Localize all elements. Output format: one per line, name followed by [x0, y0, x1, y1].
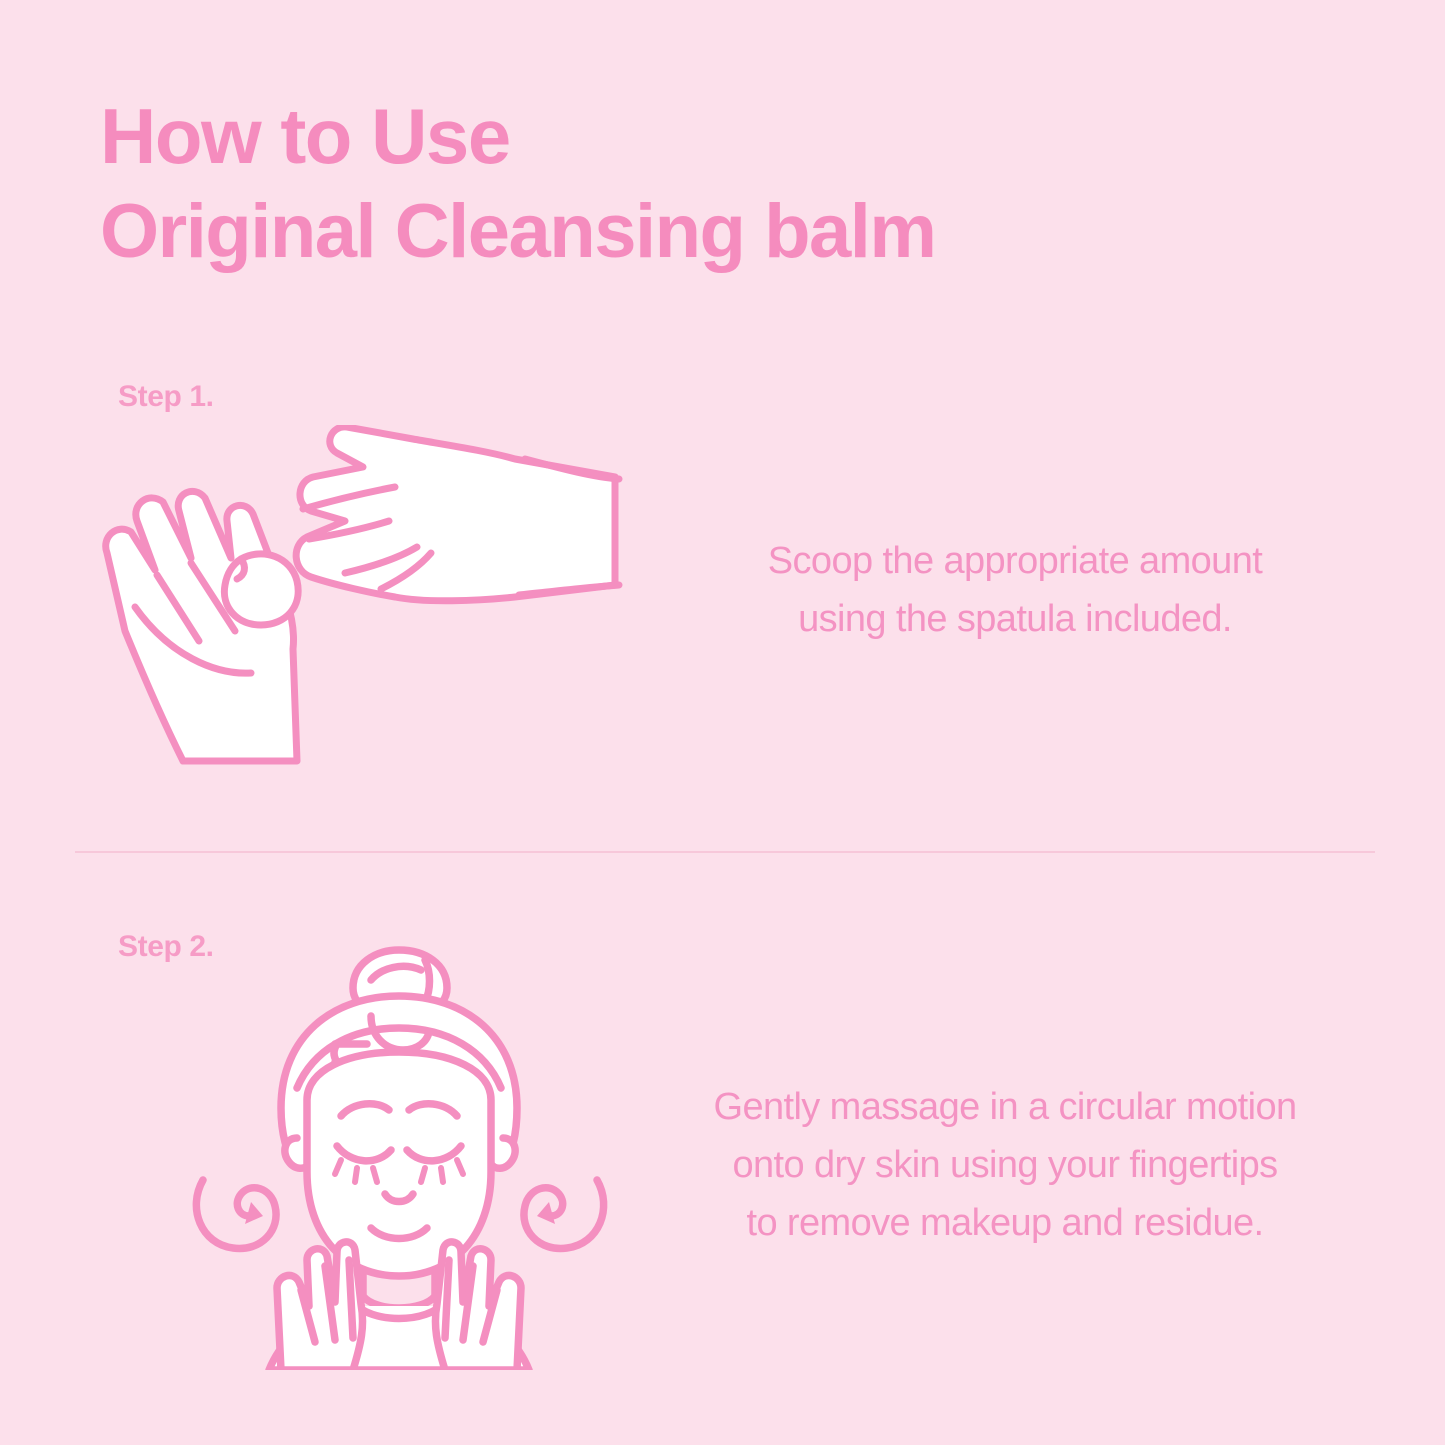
step-1-description-line-2: using the spatula included. [660, 590, 1370, 648]
hands-scooping-balm-with-spatula-icon [95, 425, 635, 785]
step-1-section: Step 1. [0, 380, 1445, 830]
step-2-description-line-3: to remove makeup and residue. [640, 1194, 1370, 1252]
step-1-label: Step 1. [118, 380, 214, 414]
step-2-description-line-1: Gently massage in a circular motion [640, 1078, 1370, 1136]
step-2-description-line-2: onto dry skin using your fingertips [640, 1136, 1370, 1194]
how-to-use-infographic: How to Use Original Cleansing balm Step … [0, 0, 1445, 1445]
woman-massaging-face-icon [185, 940, 615, 1370]
section-divider [75, 851, 1375, 853]
step-2-section: Step 2. [0, 930, 1445, 1390]
title-line-1: How to Use [100, 88, 1200, 184]
step-2-description: Gently massage in a circular motion onto… [640, 1078, 1370, 1252]
page-title: How to Use Original Cleansing balm [100, 88, 1200, 280]
step-1-description-line-1: Scoop the appropriate amount [660, 532, 1370, 590]
title-line-2: Original Cleansing balm [100, 184, 1200, 280]
step-1-description: Scoop the appropriate amount using the s… [660, 532, 1370, 648]
